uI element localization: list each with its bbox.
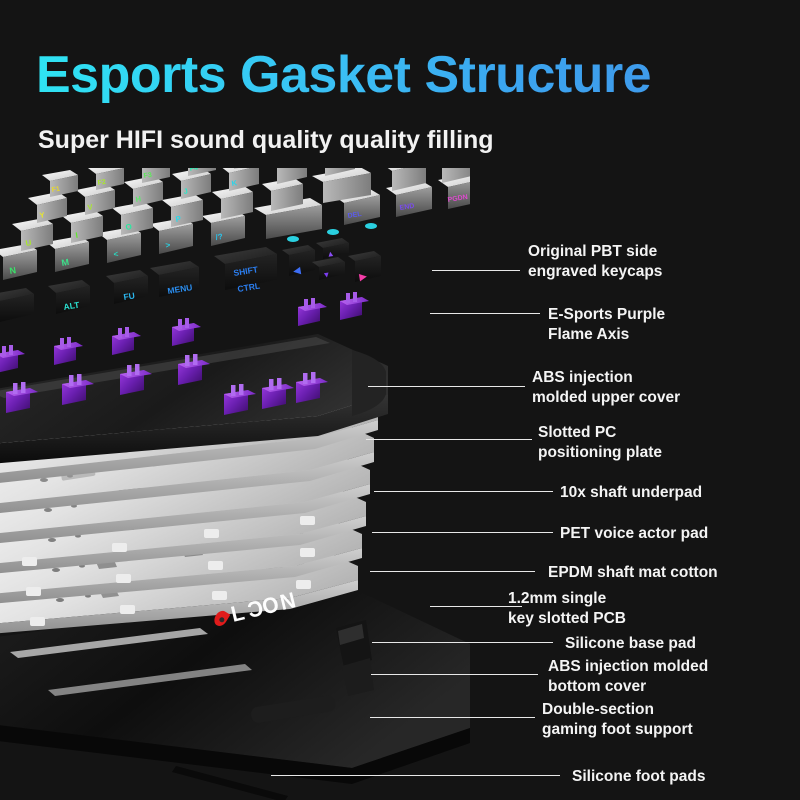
callout-foot-pads-line1: Silicone foot pads (572, 768, 705, 785)
svg-text:F2: F2 (97, 179, 106, 187)
callout-pet-pad: PET voice actor pad (560, 524, 708, 544)
leader-line-silicone-base (372, 642, 553, 643)
callout-keycaps-line1: Original PBT side (528, 243, 657, 260)
svg-text:F3: F3 (143, 172, 152, 180)
page-subtitle: Super HIFI sound quality quality filling (38, 126, 494, 155)
callout-epdm-cotton: EPDM shaft mat cotton (548, 563, 718, 583)
leader-line-epdm-cotton (370, 571, 535, 572)
page-title: Esports Gasket Structure (36, 48, 651, 103)
callout-upper-cover: ABS injection molded upper cover (532, 368, 680, 408)
product-infographic: Esports Gasket Structure Super HIFI soun… (0, 0, 800, 800)
callout-pet-pad-line1: PET voice actor pad (560, 525, 708, 542)
callout-upper-cover-line2: molded upper cover (532, 389, 680, 406)
callout-silicone-base-line1: Silicone base pad (565, 635, 696, 652)
callout-silicone-base: Silicone base pad (565, 634, 696, 654)
svg-text:M: M (61, 257, 70, 268)
leader-line-positioning (366, 439, 532, 440)
callout-positioning-line1: Slotted PC (538, 424, 616, 441)
exploded-keyboard-illustration: ALT FU MENU SHIFT CTRL (0, 168, 470, 800)
svg-text:FU: FU (123, 290, 136, 302)
leader-line-bottom-cover (371, 674, 538, 675)
callout-switches-line1: E-Sports Purple (548, 306, 665, 323)
callout-foot-support-line1: Double-section (542, 701, 654, 718)
callout-keycaps-line2: engraved keycaps (528, 263, 662, 280)
leader-line-keycaps (432, 270, 520, 271)
callout-shaft-underpad-line1: 10x shaft underpad (560, 484, 702, 501)
callout-bottom-cover-line2: bottom cover (548, 678, 646, 695)
svg-text:▲: ▲ (326, 249, 335, 259)
callout-foot-pads: Silicone foot pads (572, 767, 705, 787)
callout-foot-support: Double-section gaming foot support (542, 700, 693, 740)
callout-switches: E-Sports Purple Flame Axis (548, 305, 665, 345)
svg-text:F1: F1 (51, 186, 60, 194)
callout-switches-line2: Flame Axis (548, 326, 629, 343)
callout-pcb: 1.2mm single key slotted PCB (508, 589, 626, 629)
leader-line-shaft-underpad (374, 491, 553, 492)
leader-line-upper-cover (368, 386, 525, 387)
svg-text:▼: ▼ (322, 270, 331, 280)
leader-line-switches (430, 313, 540, 314)
callout-bottom-cover: ABS injection molded bottom cover (548, 657, 708, 697)
callout-keycaps: Original PBT side engraved keycaps (528, 242, 662, 282)
callout-pcb-line2: key slotted PCB (508, 610, 626, 627)
callout-shaft-underpad: 10x shaft underpad (560, 483, 702, 503)
leader-line-foot-support (370, 717, 535, 718)
leader-line-foot-pads (271, 775, 560, 776)
callout-pcb-line1: 1.2mm single (508, 590, 606, 607)
callout-positioning-line2: positioning plate (538, 444, 662, 461)
svg-text:ALT: ALT (63, 299, 81, 311)
leader-line-pet-pad (372, 532, 553, 533)
callout-upper-cover-line1: ABS injection (532, 369, 633, 386)
callout-positioning: Slotted PC positioning plate (538, 423, 662, 463)
callout-bottom-cover-line1: ABS injection molded (548, 658, 708, 675)
callout-epdm-cotton-line1: EPDM shaft mat cotton (548, 564, 718, 581)
svg-text:CTRL: CTRL (237, 281, 261, 294)
callout-foot-support-line2: gaming foot support (542, 721, 693, 738)
